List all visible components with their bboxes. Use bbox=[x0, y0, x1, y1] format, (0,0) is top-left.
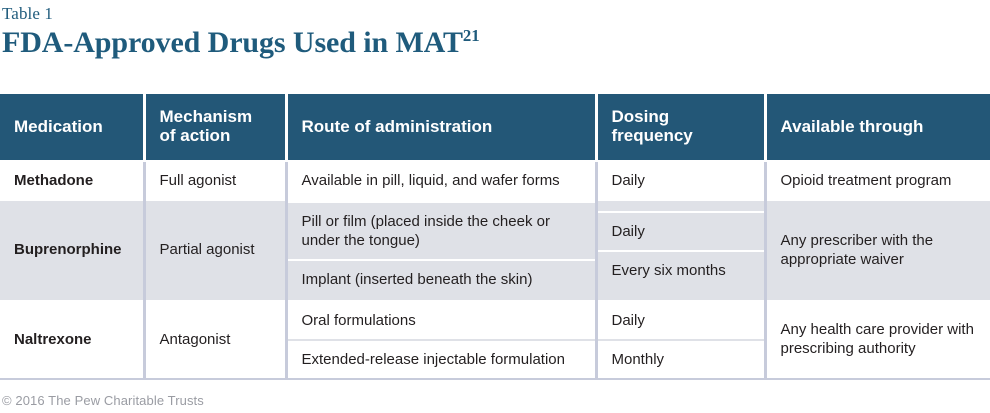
cell-dosing-group: Daily Monthly bbox=[596, 299, 765, 379]
cell-available-through: Opioid treatment program bbox=[765, 161, 990, 200]
cell-route-group: Pill or film (placed inside the cheek or… bbox=[286, 200, 596, 299]
cell-mechanism: Full agonist bbox=[144, 161, 286, 200]
page-title: FDA-Approved Drugs Used in MAT21 bbox=[2, 26, 990, 60]
cell-dosing-group: Daily Every six months bbox=[596, 200, 765, 299]
column-header-available: Available through bbox=[765, 94, 990, 161]
table-row: Naltrexone Antagonist Oral formulations … bbox=[0, 299, 990, 379]
cell-medication: Buprenorphine bbox=[0, 200, 144, 299]
page-title-text: FDA-Approved Drugs Used in MAT bbox=[2, 26, 463, 59]
dosing-subrow: Daily bbox=[598, 212, 764, 251]
cell-dosing: Daily bbox=[598, 301, 764, 340]
cell-mechanism: Antagonist bbox=[144, 299, 286, 379]
copyright-footer: © 2016 The Pew Charitable Trusts bbox=[2, 393, 204, 408]
route-subrow: Pill or film (placed inside the cheek or… bbox=[288, 202, 595, 260]
dosing-subtable: Daily Every six months bbox=[598, 211, 764, 289]
dosing-subrow: Monthly bbox=[598, 340, 764, 378]
column-header-medication: Medication bbox=[0, 94, 144, 161]
route-subtable: Pill or film (placed inside the cheek or… bbox=[288, 201, 595, 298]
table-number-label: Table 1 bbox=[2, 4, 990, 24]
cell-medication: Methadone bbox=[0, 161, 144, 200]
cell-route: Extended-release injectable formulation bbox=[288, 340, 595, 378]
table-body: Methadone Full agonist Available in pill… bbox=[0, 161, 990, 379]
cell-mechanism: Partial agonist bbox=[144, 200, 286, 299]
column-header-mechanism-line2: of action bbox=[160, 126, 231, 145]
route-subrow: Extended-release injectable formulation bbox=[288, 340, 595, 378]
cell-route: Available in pill, liquid, and wafer for… bbox=[286, 161, 596, 200]
column-header-mechanism-line1: Mechanism bbox=[160, 107, 253, 126]
cell-available-through: Any health care provider with prescribin… bbox=[765, 299, 990, 379]
route-subtable: Oral formulations Extended-release injec… bbox=[288, 300, 595, 378]
cell-dosing: Every six months bbox=[598, 251, 764, 289]
mat-drugs-table: Medication Mechanismof action Route of a… bbox=[0, 94, 990, 380]
cell-medication: Naltrexone bbox=[0, 299, 144, 379]
header-row: Medication Mechanismof action Route of a… bbox=[0, 94, 990, 161]
route-subrow: Oral formulations bbox=[288, 301, 595, 340]
title-block: Table 1 FDA-Approved Drugs Used in MAT21 bbox=[0, 0, 990, 60]
column-header-dosing-line1: Dosing bbox=[612, 107, 670, 126]
cell-available-through: Any prescriber with the appropriate waiv… bbox=[765, 200, 990, 299]
column-header-dosing-line2: frequency bbox=[612, 126, 693, 145]
dosing-subtable: Daily Monthly bbox=[598, 300, 764, 378]
table-row: Buprenorphine Partial agonist Pill or fi… bbox=[0, 200, 990, 299]
column-header-mechanism: Mechanismof action bbox=[144, 94, 286, 161]
table-row: Methadone Full agonist Available in pill… bbox=[0, 161, 990, 200]
footnote-marker: 21 bbox=[463, 26, 480, 45]
dosing-subrow: Every six months bbox=[598, 251, 764, 289]
column-header-route: Route of administration bbox=[286, 94, 596, 161]
column-header-dosing: Dosingfrequency bbox=[596, 94, 765, 161]
cell-dosing: Daily bbox=[596, 161, 765, 200]
cell-route: Pill or film (placed inside the cheek or… bbox=[288, 202, 595, 260]
table-page: Table 1 FDA-Approved Drugs Used in MAT21… bbox=[0, 0, 990, 413]
cell-route: Oral formulations bbox=[288, 301, 595, 340]
table-header: Medication Mechanismof action Route of a… bbox=[0, 94, 990, 161]
dosing-subrow: Daily bbox=[598, 301, 764, 340]
cell-dosing: Daily bbox=[598, 212, 764, 251]
route-subrow: Implant (inserted beneath the skin) bbox=[288, 260, 595, 298]
cell-dosing: Monthly bbox=[598, 340, 764, 378]
cell-route-group: Oral formulations Extended-release injec… bbox=[286, 299, 596, 379]
cell-route: Implant (inserted beneath the skin) bbox=[288, 260, 595, 298]
table-container: Medication Mechanismof action Route of a… bbox=[0, 94, 990, 380]
